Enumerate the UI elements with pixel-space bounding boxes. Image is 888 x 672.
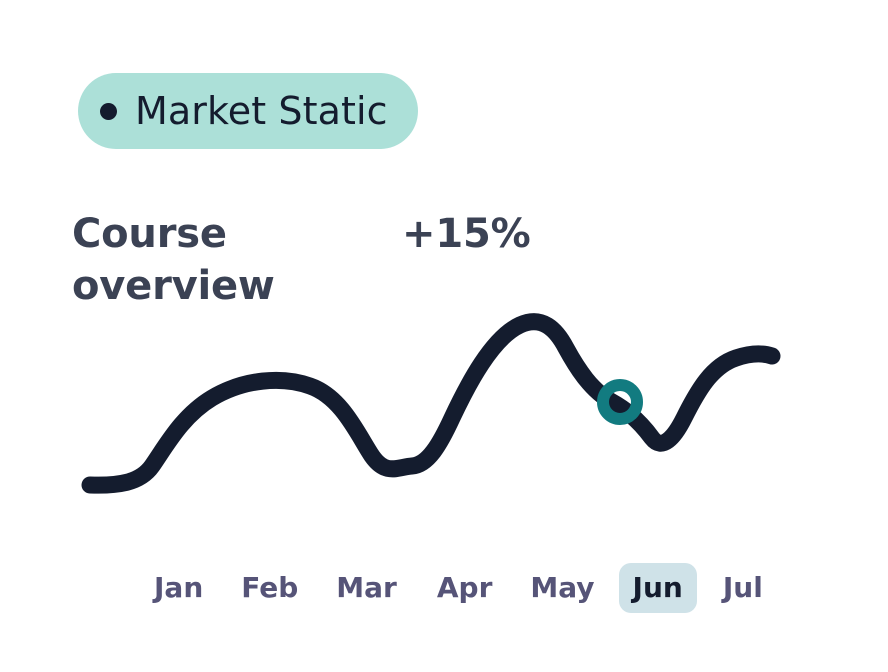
delta-value: +15% [402, 208, 530, 260]
chart-line-market-static [90, 322, 772, 485]
month-axis: Jan Feb Mar Apr May Jun Jul [140, 562, 748, 614]
month-tab-jun[interactable]: Jun [619, 563, 697, 613]
bullet-dot-icon [100, 103, 117, 120]
month-tab-may[interactable]: May [516, 563, 608, 613]
month-tab-apr[interactable]: Apr [423, 563, 507, 613]
line-chart [0, 290, 888, 530]
page-title-line-1: Course [72, 208, 402, 260]
course-overview-card: Market Static Course overview +15% Jan F… [0, 0, 888, 672]
legend-label: Market Static [135, 92, 388, 130]
chart-area [0, 290, 888, 530]
month-tab-feb[interactable]: Feb [227, 563, 312, 613]
month-tab-jan[interactable]: Jan [140, 563, 217, 613]
month-tab-jul[interactable]: Jul [709, 563, 777, 613]
month-tab-mar[interactable]: Mar [322, 563, 411, 613]
legend-pill-market-static[interactable]: Market Static [78, 73, 418, 149]
